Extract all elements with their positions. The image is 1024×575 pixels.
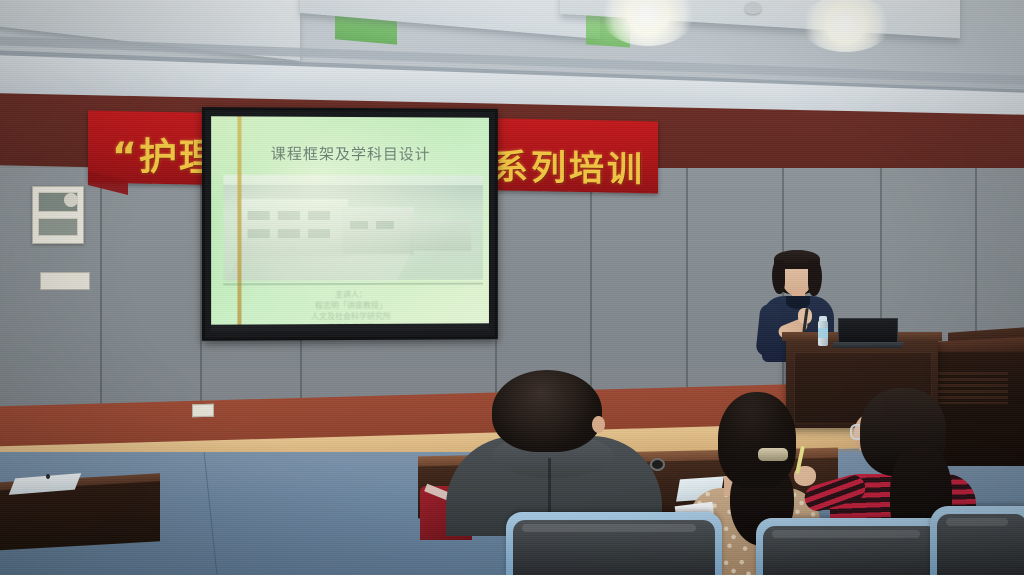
attendee-hair bbox=[718, 392, 796, 488]
attendee-hair bbox=[492, 370, 602, 452]
ceiling-light-icon bbox=[800, 0, 892, 52]
light-switch-plate[interactable] bbox=[40, 272, 90, 290]
presenter-hair-side-right bbox=[808, 260, 822, 296]
ceiling bbox=[0, 0, 1024, 96]
chair-center bbox=[756, 518, 946, 575]
slide-title: 课程框架及学科目设计 bbox=[211, 142, 489, 164]
projection-screen: 课程框架及学科目设计 主讲人： 程志明「讲座教授」 人文及社会科学研究所 香港教… bbox=[202, 107, 498, 341]
chair-left bbox=[506, 512, 722, 575]
attendee-hoodie bbox=[452, 370, 662, 530]
chair-highlight bbox=[946, 518, 1008, 526]
attendee-ear bbox=[592, 416, 605, 433]
wall-outlet[interactable] bbox=[192, 404, 214, 418]
projected-slide: 课程框架及学科目设计 主讲人： 程志明「讲座教授」 人文及社会科学研究所 香港教… bbox=[211, 116, 489, 331]
chair-highlight bbox=[522, 524, 696, 532]
wall-panel-seam bbox=[686, 168, 688, 408]
hair-clip-icon bbox=[758, 448, 788, 461]
left-desk-pin bbox=[46, 474, 50, 479]
smoke-detector-icon bbox=[745, 2, 761, 14]
water-bottle-cap bbox=[819, 316, 827, 321]
chair-right bbox=[930, 506, 1024, 575]
water-bottle-label bbox=[818, 328, 828, 338]
ac-panel-vent bbox=[38, 218, 78, 236]
ceiling-mount-bracket bbox=[881, 100, 888, 111]
banner-text-right: 系列培训 bbox=[493, 139, 645, 193]
photograph-scene: “护理 系列培训 bbox=[0, 0, 1024, 575]
ac-panel-knob-icon[interactable] bbox=[64, 193, 78, 207]
laptop-keyboard bbox=[832, 342, 904, 348]
chair-highlight bbox=[772, 530, 920, 538]
screen-bottom-bar bbox=[211, 323, 489, 331]
wall-panel-seam bbox=[100, 168, 102, 408]
presenter-hair-side-left bbox=[772, 260, 785, 294]
